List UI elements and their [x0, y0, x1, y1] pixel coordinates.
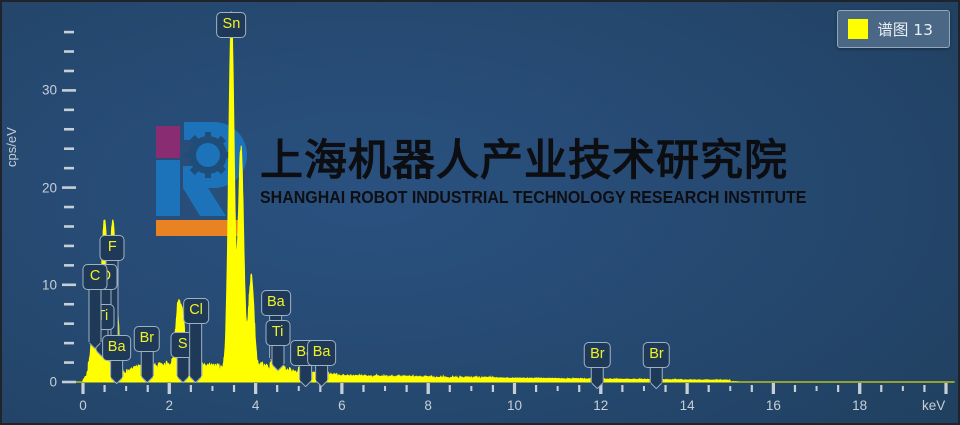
element-label-pointer — [191, 376, 202, 383]
x-tick-label: 16 — [766, 398, 781, 413]
element-label-pointer — [592, 382, 603, 389]
element-label-text: Br — [643, 342, 670, 368]
y-tick-label: 0 — [24, 375, 57, 390]
y-axis-label: cps/eV — [4, 127, 19, 167]
element-label-ba[interactable]: Ba — [307, 340, 337, 387]
x-tick-label: 4 — [252, 398, 260, 413]
element-label-text: Sn — [217, 12, 247, 38]
element-label-text: Ti — [265, 320, 290, 346]
legend[interactable]: 谱图 13 — [837, 10, 950, 48]
element-label-br[interactable]: Br — [643, 342, 670, 389]
element-label-text: Ba — [307, 340, 337, 366]
legend-swatch — [848, 19, 868, 39]
element-label-stem — [315, 366, 328, 380]
element-label-stem — [591, 368, 604, 382]
element-label-stem — [89, 290, 102, 342]
element-label-pointer — [316, 380, 327, 387]
element-label-text: Br — [134, 326, 161, 352]
x-tick-label: 12 — [593, 398, 608, 413]
element-label-text: Cl — [183, 298, 209, 324]
element-label-br[interactable]: Br — [134, 326, 161, 383]
element-label-pointer — [651, 382, 662, 389]
x-tick-label: 0 — [79, 398, 87, 413]
x-axis-unit-label: keV — [922, 398, 945, 413]
element-label-ba[interactable]: Ba — [102, 335, 132, 384]
x-tick-label: 10 — [507, 398, 522, 413]
element-label-pointer — [272, 364, 283, 371]
legend-label: 谱图 13 — [877, 18, 933, 40]
x-tick-label: 8 — [424, 398, 432, 413]
element-label-br[interactable]: Br — [584, 342, 611, 389]
y-tick-label: 20 — [24, 180, 57, 195]
element-label-stem — [140, 352, 153, 376]
element-label-text: Ba — [102, 335, 132, 361]
element-label-stem — [110, 361, 123, 377]
element-label-stem — [190, 324, 203, 376]
x-tick-label: 2 — [166, 398, 174, 413]
element-label-stem — [650, 368, 663, 382]
x-tick-label: 6 — [338, 398, 346, 413]
element-label-ti[interactable]: Ti — [265, 320, 290, 371]
element-label-text: Br — [584, 342, 611, 368]
element-label-pointer — [141, 376, 152, 383]
element-label-pointer — [90, 342, 101, 349]
element-label-sn[interactable]: Sn — [217, 12, 247, 38]
y-tick-label: 10 — [24, 277, 57, 292]
eds-spectrum-viewer: 上海机器人产业技术研究院 SHANGHAI ROBOT INDUSTRIAL T… — [0, 0, 960, 425]
element-label-text: F — [100, 235, 125, 261]
element-label-stem — [271, 346, 284, 364]
x-tick-label: 14 — [680, 398, 695, 413]
element-label-pointer — [111, 377, 122, 384]
y-tick-label: 30 — [24, 83, 57, 98]
element-label-cl[interactable]: Cl — [183, 298, 209, 383]
x-tick-label: 18 — [852, 398, 867, 413]
element-label-text: Ba — [261, 290, 291, 316]
element-label-text: C — [83, 264, 108, 290]
